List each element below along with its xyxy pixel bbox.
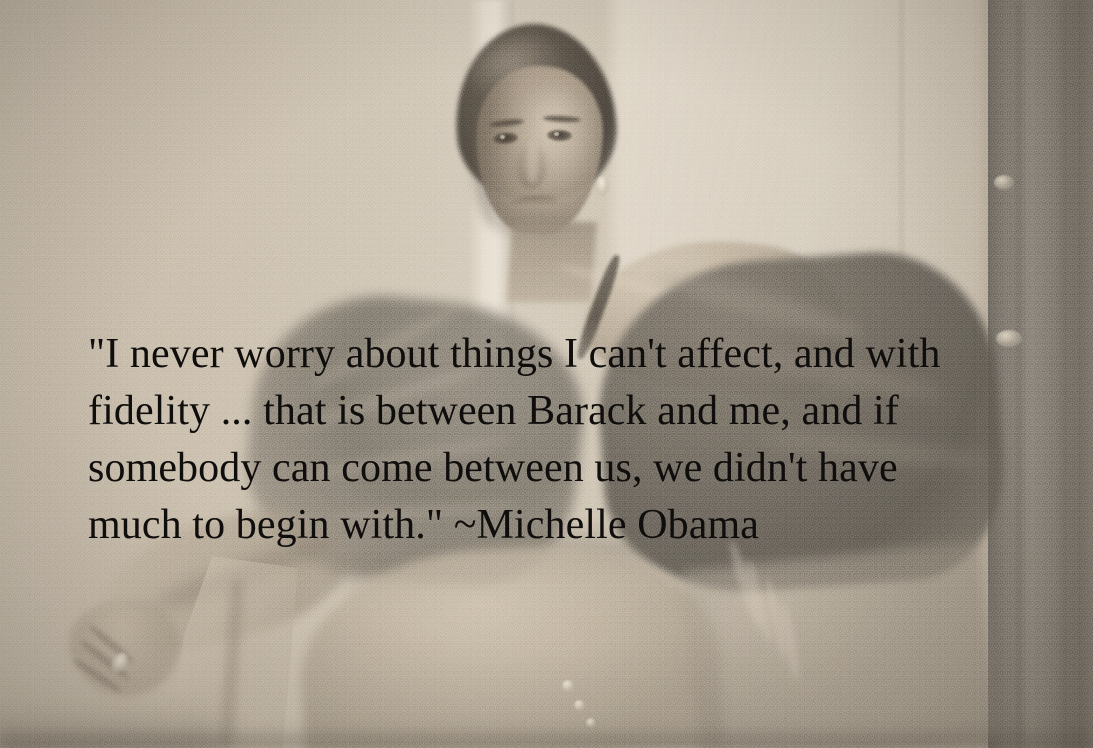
- quote-text-block: "I never worry about things I can't affe…: [88, 326, 1033, 554]
- quote-line-2: fidelity ... that is between Barack and …: [88, 383, 1033, 440]
- quote-line-3: somebody can come between us, we didn't …: [88, 440, 1033, 497]
- quote-line-4-attribution: much to begin with." ~Michelle Obama: [88, 497, 1033, 554]
- quote-line-1: "I never worry about things I can't affe…: [88, 326, 1033, 383]
- quote-image-canvas: "I never worry about things I can't affe…: [0, 0, 1093, 748]
